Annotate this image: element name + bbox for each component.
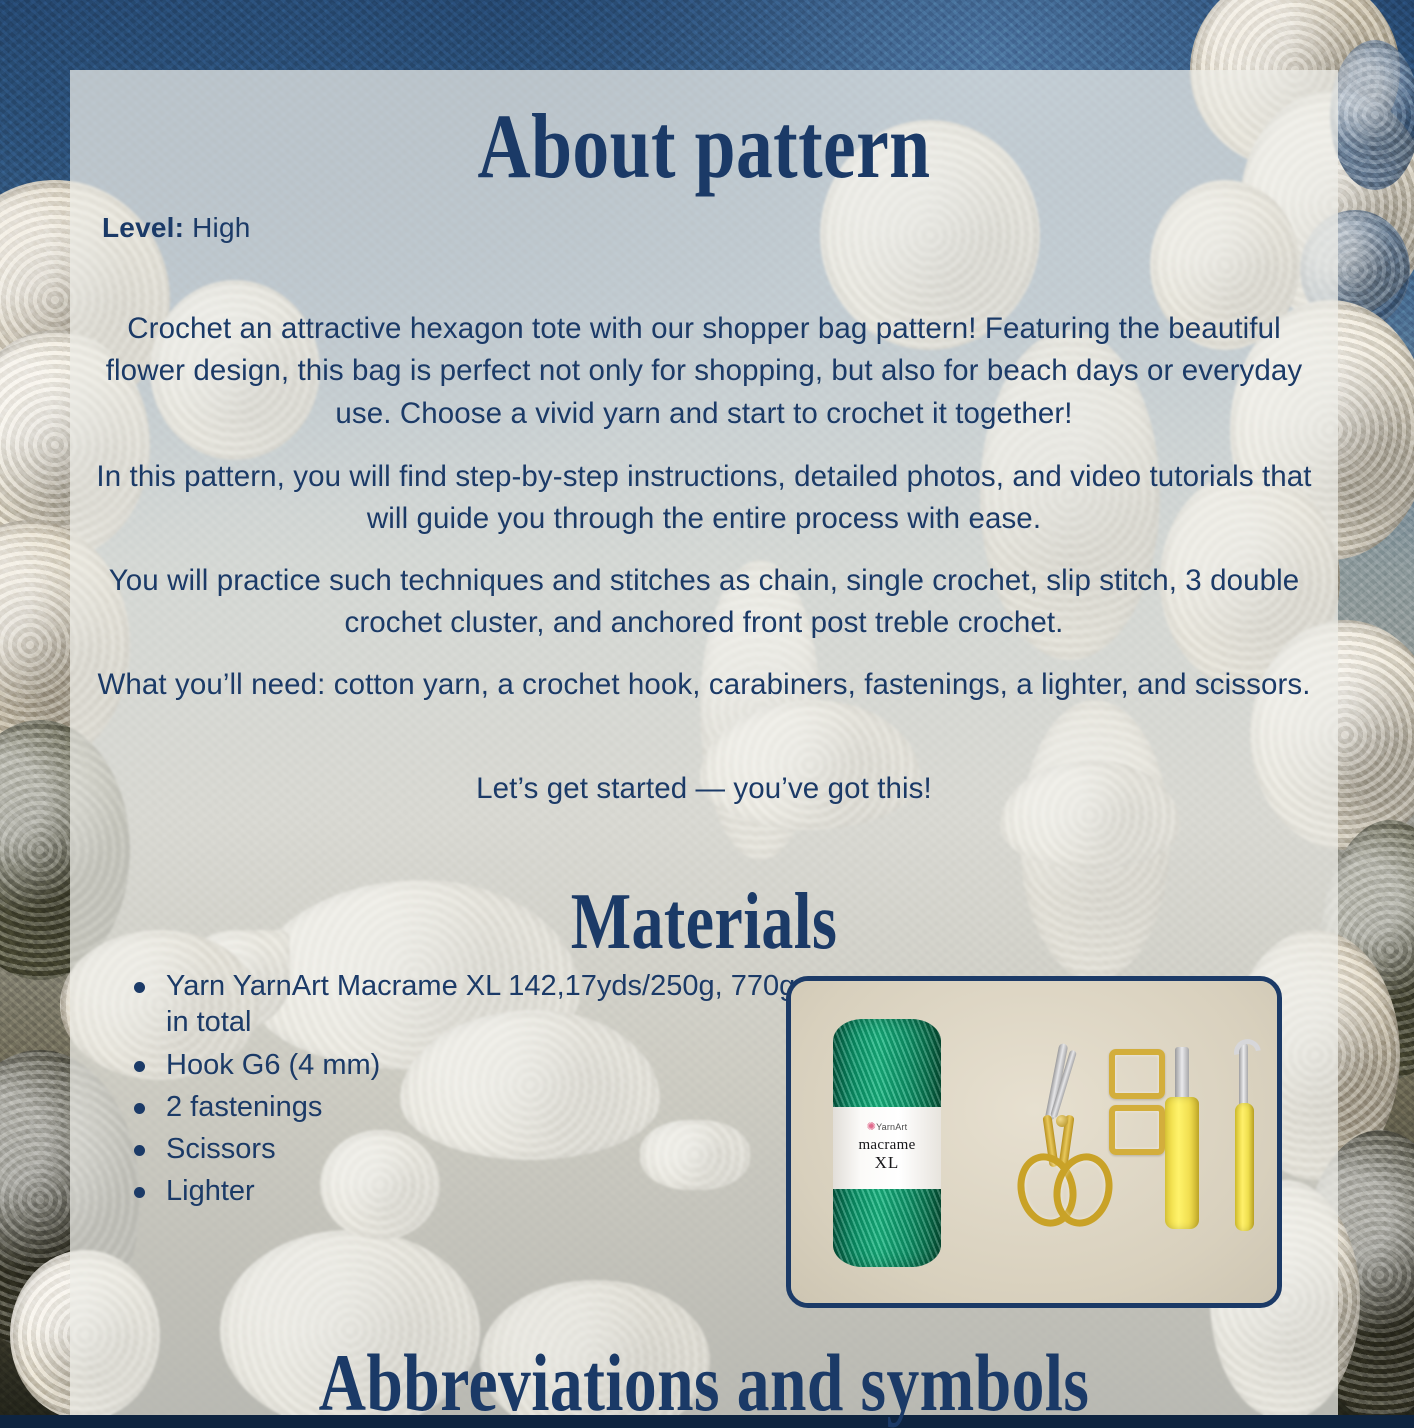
- yarn-brand-name: ✺YarnArt: [833, 1120, 941, 1133]
- scissors-pivot: [1056, 1115, 1068, 1127]
- intro-paragraph: Crochet an attractive hexagon tote with …: [84, 308, 1324, 436]
- crochet-hook-tip: [1229, 1034, 1267, 1072]
- section-title-abbreviations-and-symbols: Abbreviations and symbols: [197, 1342, 1211, 1424]
- materials-list: Yarn YarnArt Macrame XL 142,17yds/250g, …: [108, 968, 806, 1216]
- contents-paragraph: In this pattern, you will find step-by-s…: [84, 456, 1324, 542]
- list-item: Scissors: [166, 1131, 806, 1167]
- section-title-materials: Materials: [197, 882, 1211, 962]
- level-label: Level:: [102, 212, 184, 243]
- supplies-paragraph: What you’ll need: cotton yarn, a crochet…: [84, 664, 1324, 707]
- list-item: Yarn YarnArt Macrame XL 142,17yds/250g, …: [166, 968, 806, 1041]
- square-fastening-ring: [1109, 1049, 1165, 1099]
- yarn-product-name: macrame: [833, 1137, 941, 1154]
- level-value: High: [192, 212, 250, 243]
- materials-photo-card: ✺YarnArt macrame XL: [786, 976, 1282, 1308]
- crochet-hook-handle: [1235, 1103, 1254, 1231]
- lighter-metal-top: [1175, 1047, 1189, 1103]
- scissors-icon: [1016, 1043, 1100, 1233]
- lighter-icon: [1165, 1097, 1199, 1229]
- list-item: 2 fastenings: [166, 1089, 806, 1125]
- yarn-skein: ✺YarnArt macrame XL: [833, 1019, 941, 1267]
- content-panel: About pattern Level: High Crochet an att…: [70, 70, 1338, 1415]
- yarn-label: ✺YarnArt macrame XL: [833, 1107, 941, 1189]
- page-title-about-pattern: About pattern: [197, 100, 1211, 192]
- list-item: Lighter: [166, 1173, 806, 1209]
- yarnart-logo-icon: ✺: [867, 1121, 876, 1133]
- list-item: Hook G6 (4 mm): [166, 1047, 806, 1083]
- techniques-paragraph: You will practice such techniques and st…: [84, 560, 1324, 646]
- square-fastening-ring: [1109, 1105, 1165, 1155]
- encouragement-line: Let’s get started — you’ve got this!: [84, 768, 1324, 811]
- level-line: Level: High: [102, 212, 251, 244]
- yarn-product-size: XL: [833, 1153, 941, 1173]
- materials-photo: ✺YarnArt macrame XL: [791, 981, 1277, 1303]
